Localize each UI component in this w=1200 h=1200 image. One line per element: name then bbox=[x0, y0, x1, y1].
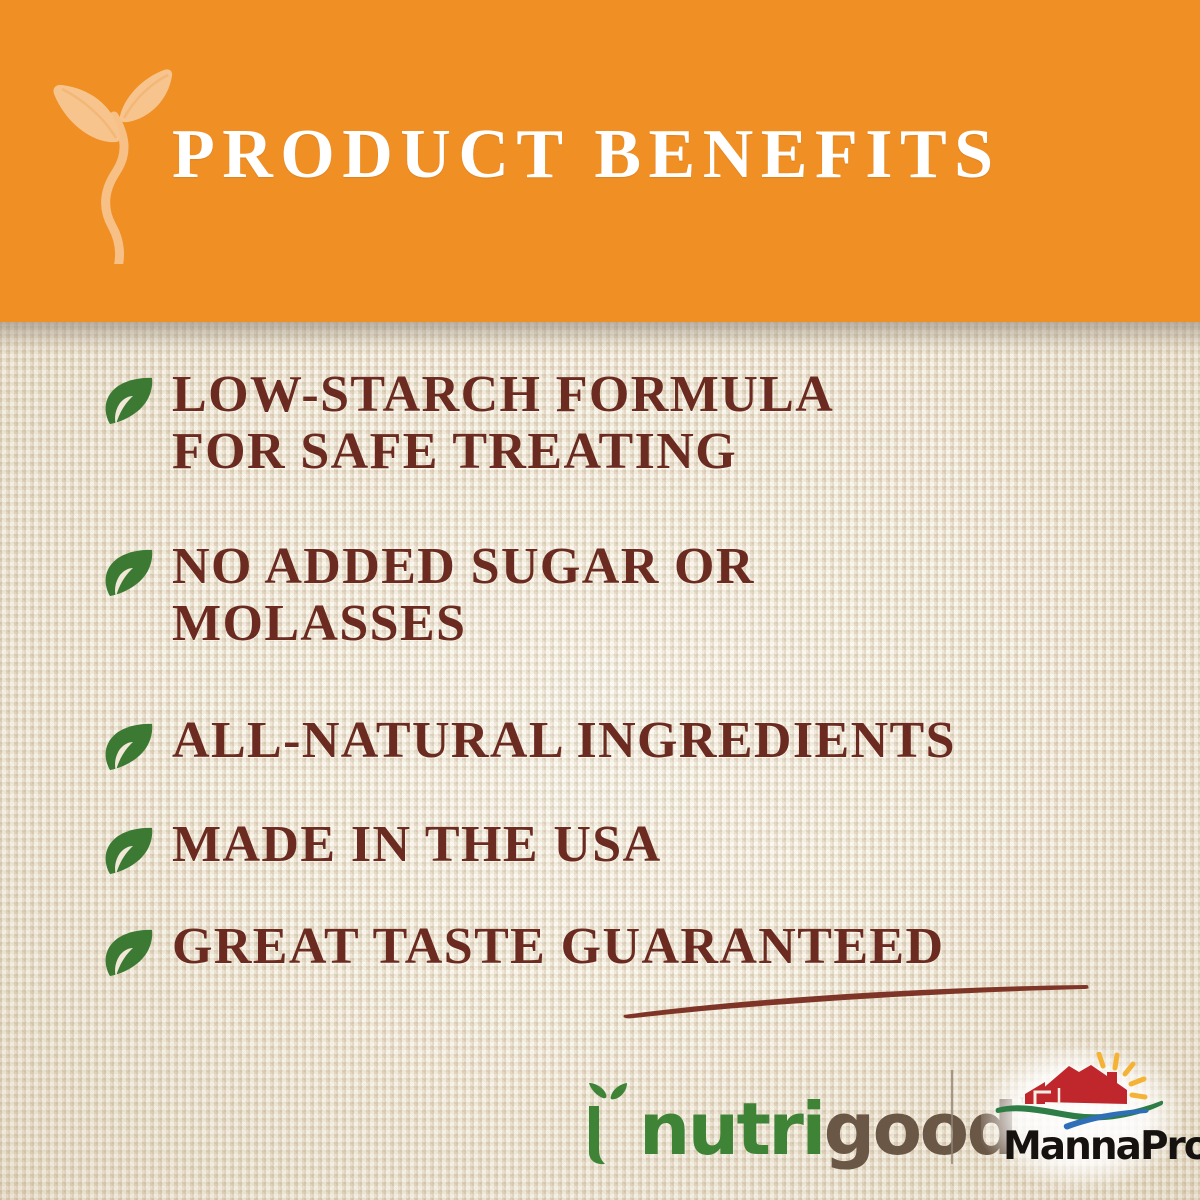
header-banner: PRODUCT BENEFITS bbox=[0, 0, 1200, 322]
torn-paper-edge bbox=[0, 264, 1200, 322]
page-title: PRODUCT BENEFITS bbox=[172, 120, 1001, 190]
product-benefits-poster: PRODUCT BENEFITS LOW-STARCH FORMULA FOR … bbox=[0, 0, 1200, 1200]
leaf-icon bbox=[100, 546, 158, 600]
brush-stroke-underline-icon bbox=[620, 979, 1090, 1019]
barn-icon bbox=[1041, 1065, 1127, 1104]
benefit-item-great-taste: GREAT TASTE GUARANTEED bbox=[100, 918, 944, 980]
nutrigood-nutri-text: nutri bbox=[639, 1087, 824, 1171]
leaf-icon bbox=[100, 374, 158, 428]
leaf-icon bbox=[100, 824, 158, 878]
benefit-text: NO ADDED SUGAR OR MOLASSES bbox=[172, 538, 755, 652]
benefit-text: MADE IN THE USA bbox=[172, 816, 662, 873]
mannapro-wordmark-text: MannaPro bbox=[1003, 1124, 1200, 1169]
benefit-item-no-added-sugar: NO ADDED SUGAR OR MOLASSES bbox=[100, 538, 755, 652]
benefit-text: ALL-NATURAL INGREDIENTS bbox=[172, 712, 956, 769]
footer-logos: nutrigood™ bbox=[0, 1040, 1200, 1190]
nutrigood-logo: nutrigood™ bbox=[575, 1070, 1033, 1150]
leaf-icon bbox=[100, 720, 158, 774]
logo-divider bbox=[951, 1070, 953, 1164]
benefit-item-made-in-usa: MADE IN THE USA bbox=[100, 816, 662, 878]
sprout-icon bbox=[42, 58, 174, 288]
mannapro-wordmark: MannaPro® bbox=[1003, 1124, 1200, 1169]
mannapro-logo: MannaPro® bbox=[995, 1052, 1165, 1178]
benefit-text: GREAT TASTE GUARANTEED bbox=[172, 918, 944, 975]
leaf-icon bbox=[100, 926, 158, 980]
benefit-text: LOW-STARCH FORMULA FOR SAFE TREATING bbox=[172, 366, 834, 480]
nutrigood-sprout-icon bbox=[575, 1082, 637, 1166]
benefit-item-all-natural: ALL-NATURAL INGREDIENTS bbox=[100, 712, 956, 774]
mannapro-barn-sun-icon bbox=[995, 1052, 1165, 1132]
benefit-item-low-starch: LOW-STARCH FORMULA FOR SAFE TREATING bbox=[100, 366, 834, 480]
